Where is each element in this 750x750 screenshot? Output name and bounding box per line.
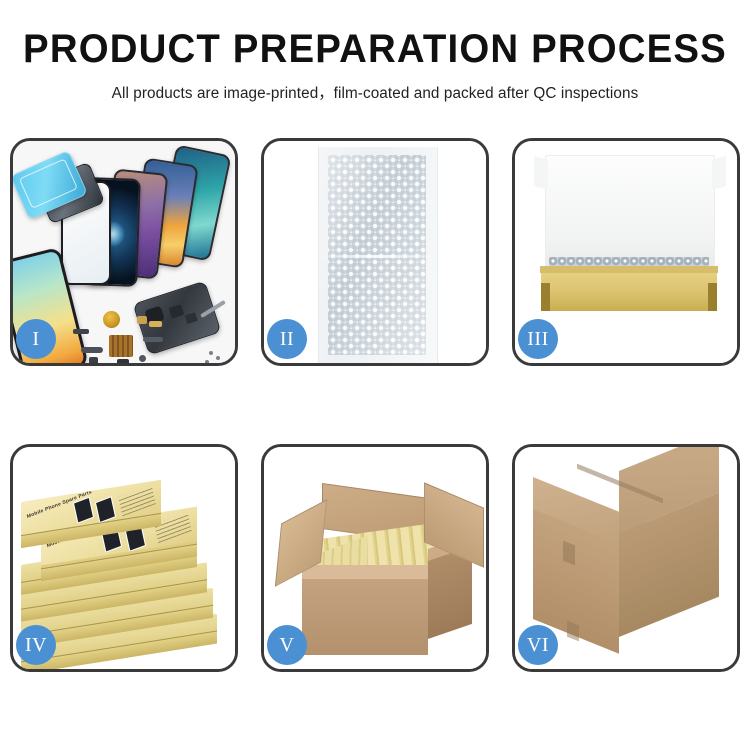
battery-part <box>73 329 89 334</box>
step-badge-4: IV <box>16 625 56 665</box>
connector-grid-part <box>109 335 133 357</box>
connector-part <box>137 316 147 324</box>
speaker-part <box>117 359 129 366</box>
step-panel-2: II <box>261 138 489 366</box>
step-panel-6: VI <box>512 444 740 672</box>
step-panel-4: Mobile Phone Spare Parts Mobile Phone Sp… <box>10 444 238 672</box>
box-lid <box>545 155 715 273</box>
step-badge-6: VI <box>518 625 558 665</box>
box-screen-image-1b <box>95 496 116 523</box>
step-panel-5: V <box>261 444 489 672</box>
step-panel-1: I <box>10 138 238 366</box>
product-preparation-infographic: PRODUCT PREPARATION PROCESS All products… <box>0 0 750 750</box>
box-tray <box>541 267 717 311</box>
box-spec-lines-1 <box>118 485 155 516</box>
box-tray-edge-left <box>541 283 550 311</box>
gold-coil-part <box>103 311 120 328</box>
step-panel-3: III <box>512 138 740 366</box>
box-screen-image-1a <box>73 497 94 524</box>
process-steps-grid: I II III <box>10 138 740 672</box>
page-title: PRODUCT PREPARATION PROCESS <box>15 28 735 70</box>
connector-part-2 <box>149 321 162 327</box>
sealed-carton-tape-upper <box>563 541 575 566</box>
step-badge-5: V <box>267 625 307 665</box>
carton-front-face <box>302 579 428 655</box>
box-tray-edge-right <box>708 283 717 311</box>
wrap-seam <box>322 255 432 258</box>
page-subtitle: All products are image-printed，film-coat… <box>6 81 745 103</box>
camera-module-part <box>89 357 98 366</box>
step-badge-3: III <box>518 319 558 359</box>
button-part <box>139 355 146 362</box>
header: PRODUCT PREPARATION PROCESS All products… <box>0 28 750 103</box>
step-badge-1: I <box>16 319 56 359</box>
flex-cable-part-2 <box>143 337 163 342</box>
screws-part <box>209 351 213 355</box>
step-badge-2: II <box>267 319 307 359</box>
flex-cable-part <box>81 347 103 353</box>
